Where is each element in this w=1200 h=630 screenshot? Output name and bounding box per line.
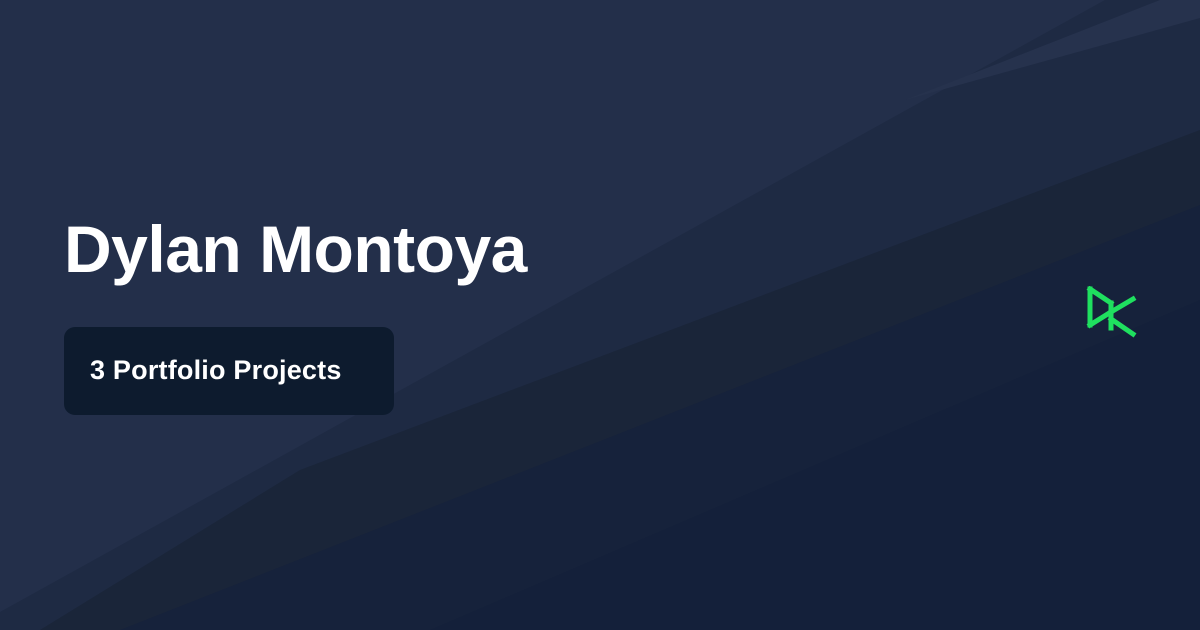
status-badge-label: 3 Portfolio Projects: [90, 355, 342, 386]
brand-logo: [1086, 286, 1138, 338]
portfolio-share-card: Dylan Montoya 3 Portfolio Projects: [0, 0, 1200, 630]
card-content: Dylan Montoya 3 Portfolio Projects: [64, 0, 964, 630]
status-badge: 3 Portfolio Projects: [64, 327, 394, 415]
page-title: Dylan Montoya: [64, 215, 527, 285]
dk-monogram-icon: [1086, 286, 1138, 338]
